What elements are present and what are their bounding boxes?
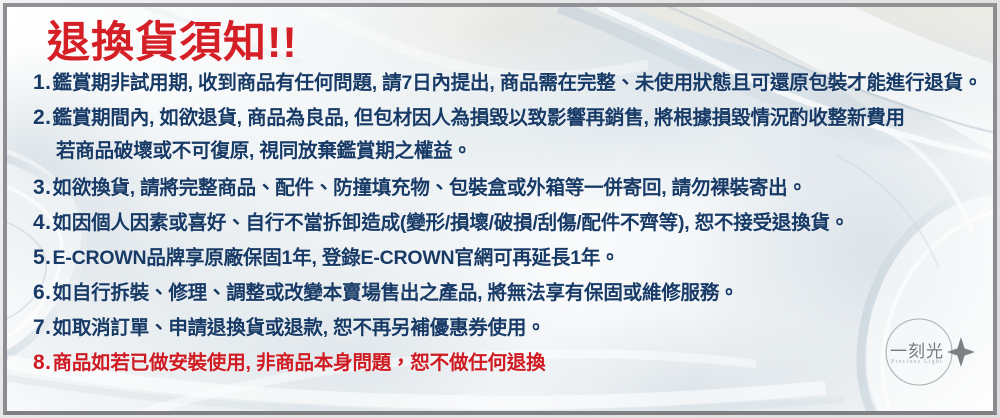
list-item-number: 1. <box>33 72 52 93</box>
list-item-number: 2. <box>33 107 52 128</box>
list-item-text: 如自行拆裝、修理、調整或改變本賣場售出之產品, 將無法享有保固或維修服務。 <box>53 284 739 304</box>
list-item-number: 8. <box>33 352 52 373</box>
list-item: 1. 鑑賞期非試用期, 收到商品有任何問題, 請7日內提出, 商品需在完整、未使… <box>33 72 973 107</box>
list-item-number: 4. <box>33 212 52 233</box>
list-item-text: 商品如若已做安裝使用, 非商品本身問題，恕不做任何退換 <box>53 354 546 374</box>
list-item-text: 若商品破壞或不可復原, 視同放棄鑑賞期之權益。 <box>56 142 472 162</box>
list-item-text: E-CROWN品牌享原廠保固1年, 登錄E-CROWN官網可再延長1年。 <box>53 249 620 269</box>
list-item-text: 如取消訂單、申請退換貨或退款, 恕不再另補優惠券使用。 <box>53 319 546 339</box>
list-item-number: 3. <box>33 177 52 198</box>
list-item: 3. 如欲換貨, 請將完整商品、配件、防撞填充物、包裝盒或外箱等一併寄回, 請勿… <box>33 177 973 212</box>
policy-list: 1. 鑑賞期非試用期, 收到商品有任何問題, 請7日內提出, 商品需在完整、未使… <box>33 72 973 387</box>
returns-policy-card: 退換貨須知!! 1. 鑑賞期非試用期, 收到商品有任何問題, 請7日內提出, 商… <box>0 0 1000 418</box>
brand-tagline: Precious Light <box>881 359 953 365</box>
brand-logo: 一刻光 Precious Light <box>867 315 975 389</box>
notice-frame: 退換貨須知!! 1. 鑑賞期非試用期, 收到商品有任何問題, 請7日內提出, 商… <box>3 3 997 415</box>
list-item-text: 如因個人因素或喜好、自行不當拆卸造成(變形/損壞/破損/刮傷/配件不齊等), 恕… <box>53 214 850 234</box>
list-item: 7. 如取消訂單、申請退換貨或退款, 恕不再另補優惠券使用。 <box>33 317 973 352</box>
list-item: 4. 如因個人因素或喜好、自行不當拆卸造成(變形/損壞/破損/刮傷/配件不齊等)… <box>33 212 973 247</box>
list-item: 6. 如自行拆裝、修理、調整或改變本賣場售出之產品, 將無法享有保固或維修服務。 <box>33 282 973 317</box>
notice-content: 退換貨須知!! 1. 鑑賞期非試用期, 收到商品有任何問題, 請7日內提出, 商… <box>7 7 993 387</box>
list-item-number: 5. <box>33 247 52 268</box>
page-title: 退換貨須知!! <box>47 21 973 66</box>
list-item-text: 鑑賞期間內, 如欲退貨, 商品為良品, 但包材因人為損毀以致影響再銷售, 將根據… <box>53 109 905 129</box>
list-item: 5. E-CROWN品牌享原廠保固1年, 登錄E-CROWN官網可再延長1年。 <box>33 247 973 282</box>
list-item: 2. 鑑賞期間內, 如欲退貨, 商品為良品, 但包材因人為損毀以致影響再銷售, … <box>33 107 973 142</box>
list-item-number: 7. <box>33 317 52 338</box>
list-item-continuation: 若商品破壞或不可復原, 視同放棄鑑賞期之權益。 <box>33 142 973 177</box>
list-item-text: 如欲換貨, 請將完整商品、配件、防撞填充物、包裝盒或外箱等一併寄回, 請勿裸裝寄… <box>53 179 807 199</box>
list-item-text: 鑑賞期非試用期, 收到商品有任何問題, 請7日內提出, 商品需在完整、未使用狀態… <box>53 74 983 94</box>
list-item-highlighted: 8. 商品如若已做安裝使用, 非商品本身問題，恕不做任何退換 <box>33 352 973 387</box>
list-item-number: 6. <box>33 282 52 303</box>
